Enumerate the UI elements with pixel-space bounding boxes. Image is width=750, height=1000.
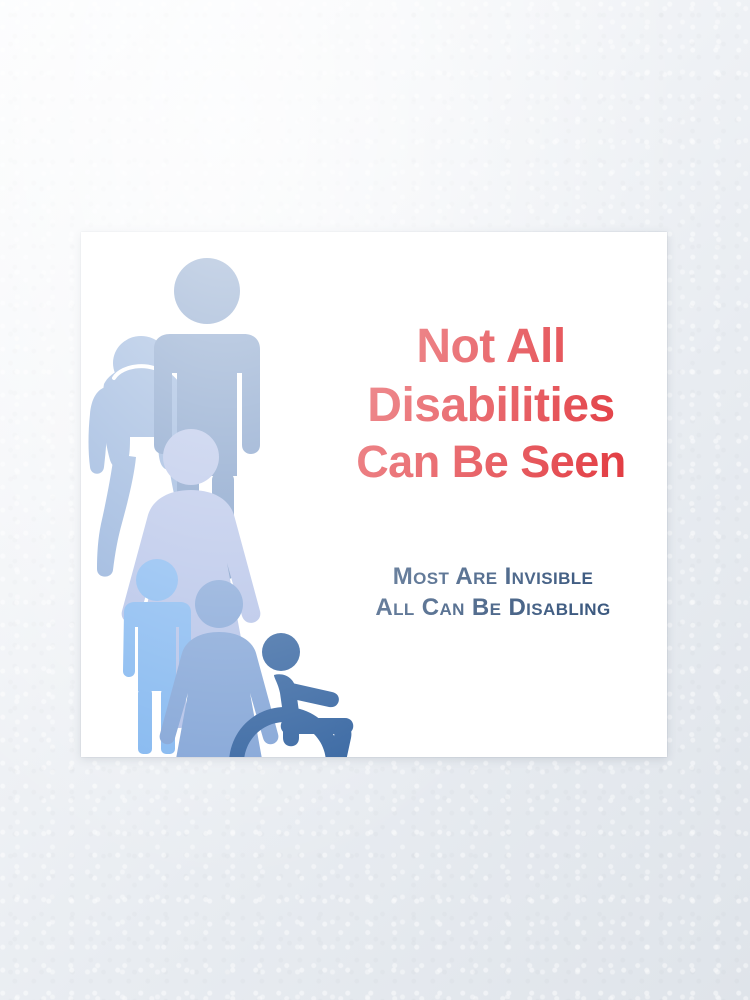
poster: Not All Disabilities Can Be Seen Most Ar… <box>81 232 667 757</box>
figure-group <box>81 232 667 757</box>
headline-line-3: Can Be Seen <box>321 435 661 490</box>
poster-headline: Not All Disabilities Can Be Seen <box>321 318 661 490</box>
headline-line-1: Not All <box>321 318 661 377</box>
wall-background: Not All Disabilities Can Be Seen Most Ar… <box>0 0 750 1000</box>
headline-line-2: Disabilities <box>321 377 661 436</box>
subtitle-line-2: All Can Be Disabling <box>321 593 665 624</box>
poster-subtitle: Most Are Invisible All Can Be Disabling <box>321 562 665 623</box>
subtitle-line-1: Most Are Invisible <box>321 562 665 593</box>
